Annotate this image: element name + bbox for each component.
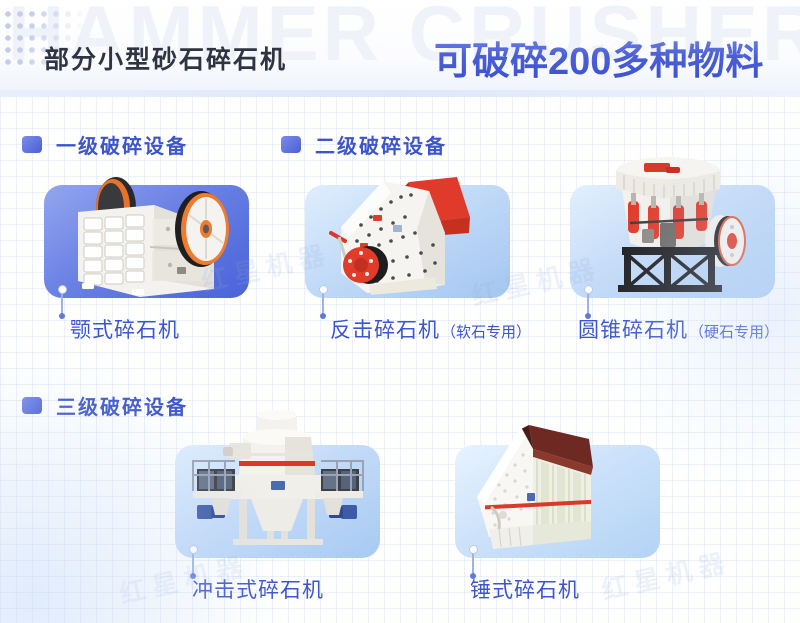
pin-top-dot: [469, 545, 478, 554]
product-caption-jaw-crusher: 颚式碎石机: [70, 314, 181, 344]
product-name-impact-crusher: 反击碎石机: [330, 314, 440, 344]
product-caption-hammer-crusher: 锤式碎石机: [470, 574, 581, 604]
poster-header: HAMMER CRUSHER 部分小型砂石碎石机 可破碎200多种物料: [0, 0, 800, 97]
product-image-cone-crusher: [570, 185, 775, 298]
connector-pin-impact-crusher: [322, 290, 324, 316]
product-card-cone-crusher[interactable]: [570, 185, 775, 298]
pin-bottom-dot: [320, 313, 326, 319]
product-note-cone-crusher: （硬石专用）: [689, 321, 779, 342]
poster-root: HAMMER CRUSHER 部分小型砂石碎石机 可破碎200多种物料 一级破碎…: [0, 0, 800, 623]
pin-top-dot: [584, 285, 593, 294]
bullet-square-icon: [22, 136, 42, 153]
product-caption-vsi-sand-maker: 冲击式碎石机: [192, 574, 325, 604]
product-note-impact-crusher: （软石专用）: [441, 321, 531, 342]
product-caption-cone-crusher: 圆锥碎石机 （硬石专用）: [578, 314, 779, 344]
header-title-left: 部分小型砂石碎石机: [44, 40, 287, 76]
product-name-hammer-crusher: 锤式碎石机: [470, 574, 580, 604]
section-heading-stage-1: 一级破碎设备: [22, 130, 188, 159]
pin-top-dot: [189, 545, 198, 554]
connector-pin-vsi-sand-maker: [192, 550, 194, 576]
product-name-cone-crusher: 圆锥碎石机: [578, 314, 688, 344]
product-image-vsi-sand-maker: [175, 445, 380, 558]
product-card-impact-crusher[interactable]: [305, 185, 510, 298]
connector-pin-jaw-crusher: [61, 290, 63, 316]
bullet-square-icon: [281, 136, 301, 153]
product-image-jaw-crusher: [44, 185, 249, 298]
connector-pin-cone-crusher: [587, 290, 589, 316]
connector-pin-hammer-crusher: [472, 550, 474, 576]
section-heading-stage-2: 二级破碎设备: [281, 130, 447, 159]
section-heading-stage-3: 三级破碎设备: [22, 391, 188, 420]
section-label-stage-1: 一级破碎设备: [56, 130, 188, 159]
product-caption-impact-crusher: 反击碎石机 （软石专用）: [330, 314, 531, 344]
header-title-right: 可破碎200多种物料: [434, 30, 763, 85]
product-name-vsi-sand-maker: 冲击式碎石机: [192, 574, 324, 604]
product-name-jaw-crusher: 颚式碎石机: [70, 314, 180, 344]
product-image-impact-crusher: [305, 185, 510, 298]
bullet-square-icon: [22, 397, 42, 414]
product-card-vsi-sand-maker[interactable]: [175, 445, 380, 558]
pin-bottom-dot: [59, 313, 65, 319]
section-label-stage-2: 二级破碎设备: [315, 130, 447, 159]
product-image-hammer-crusher: [455, 445, 660, 558]
product-card-jaw-crusher[interactable]: [44, 185, 249, 298]
header-divider: [0, 90, 800, 97]
product-card-hammer-crusher[interactable]: [455, 445, 660, 558]
pin-top-dot: [319, 285, 328, 294]
pin-top-dot: [58, 285, 67, 294]
section-label-stage-3: 三级破碎设备: [56, 391, 188, 420]
